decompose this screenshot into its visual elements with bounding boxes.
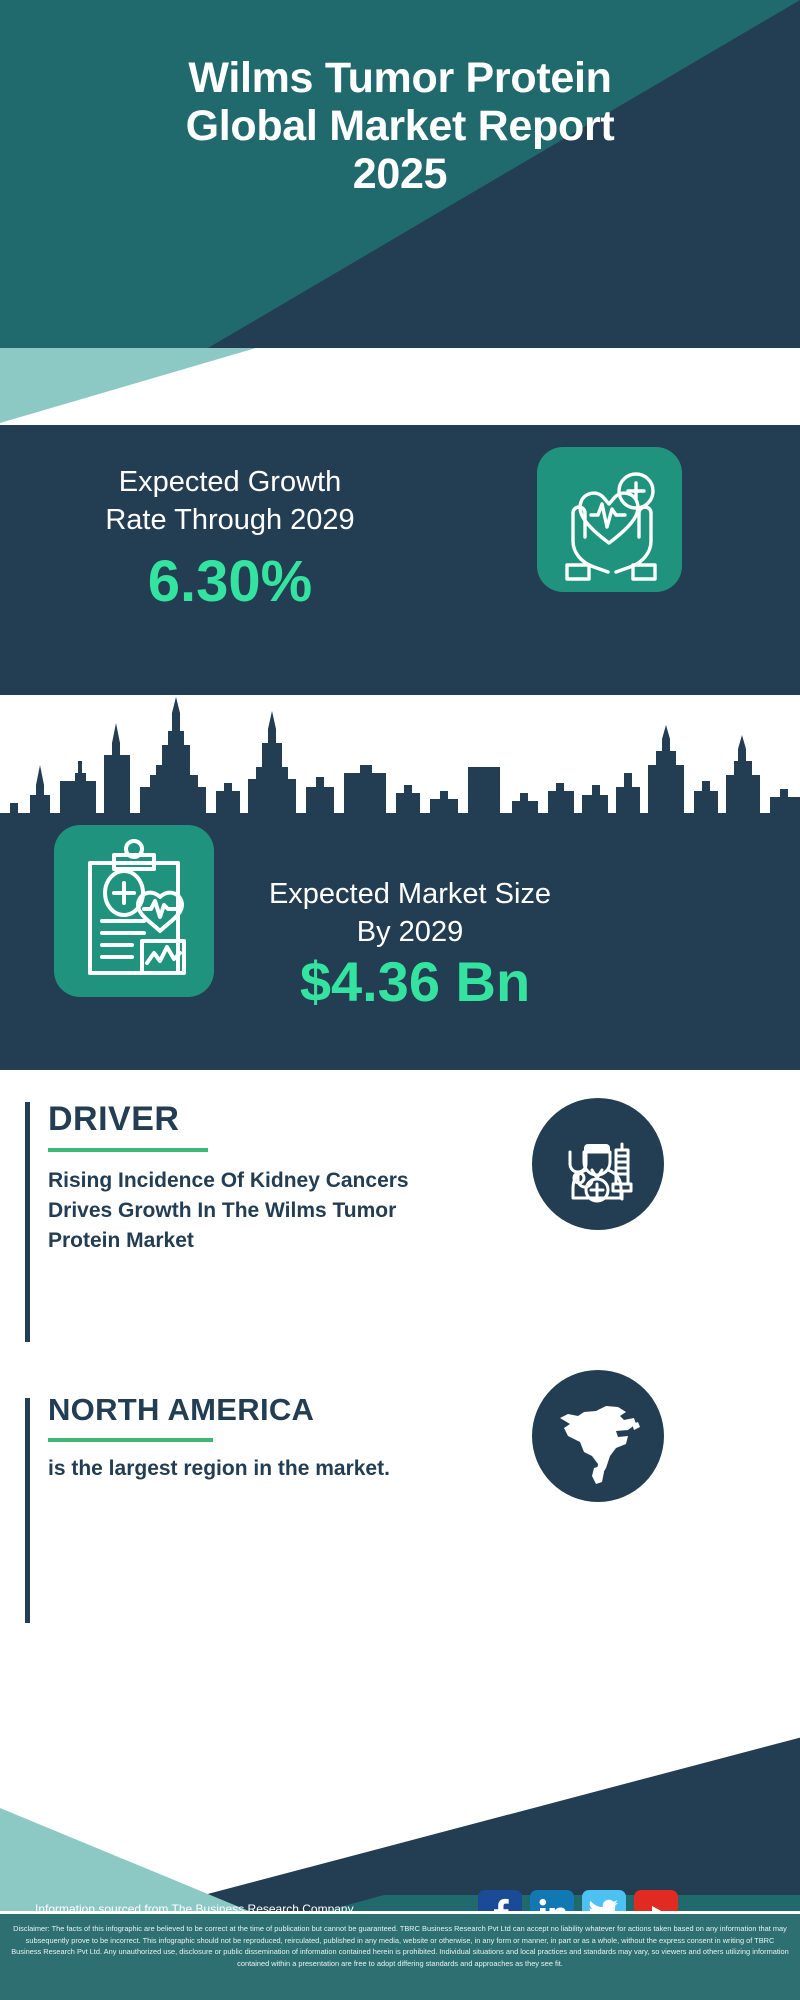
insight-cards: DRIVER Rising Incidence Of Kidney Cancer… <box>0 1070 800 1680</box>
region-card: NORTH AMERICA is the largest region in t… <box>0 1360 800 1610</box>
driver-underline <box>48 1148 208 1152</box>
growth-label-line-1: Expected Growth <box>30 463 430 501</box>
region-heading: NORTH AMERICA <box>48 1392 314 1428</box>
market-label-line-2: By 2029 <box>235 913 585 951</box>
growth-label-line-2: Rate Through 2029 <box>30 501 430 539</box>
driver-card: DRIVER Rising Incidence Of Kidney Cancer… <box>0 1070 800 1330</box>
disclaimer-text: Disclaimer: The facts of this infographi… <box>0 1914 800 2000</box>
market-label-line-1: Expected Market Size <box>235 875 585 913</box>
page-title: Wilms Tumor Protein Global Market Report… <box>0 54 800 198</box>
title-line-1: Wilms Tumor Protein <box>0 54 800 102</box>
growth-rate-label: Expected Growth Rate Through 2029 <box>30 463 430 539</box>
doctor-stethoscope-syringe-icon <box>532 1098 664 1230</box>
market-size-label: Expected Market Size By 2029 <box>235 875 585 951</box>
header-banner: Wilms Tumor Protein Global Market Report… <box>0 0 800 348</box>
region-underline <box>48 1438 213 1442</box>
growth-rate-value: 6.30% <box>30 550 430 614</box>
growth-rate-section: Expected Growth Rate Through 2029 6.30% <box>0 425 800 695</box>
market-size-section: Expected Market Size By 2029 $4.36 Bn <box>0 855 800 1070</box>
north-america-map-icon <box>532 1370 664 1502</box>
title-line-3: 2025 <box>0 150 800 198</box>
driver-body-text: Rising Incidence Of Kidney Cancers Drive… <box>48 1166 428 1256</box>
medical-clipboard-heart-chart-icon <box>54 825 214 997</box>
region-accent-bar <box>25 1398 30 1623</box>
hands-holding-heart-pulse-icon <box>537 447 682 592</box>
driver-accent-bar <box>25 1102 30 1342</box>
market-size-value: $4.36 Bn <box>235 949 595 1015</box>
region-body-text: is the largest region in the market. <box>48 1454 428 1484</box>
title-line-2: Global Market Report <box>0 102 800 150</box>
header-teal-wedge <box>0 348 800 423</box>
driver-heading: DRIVER <box>48 1100 179 1139</box>
